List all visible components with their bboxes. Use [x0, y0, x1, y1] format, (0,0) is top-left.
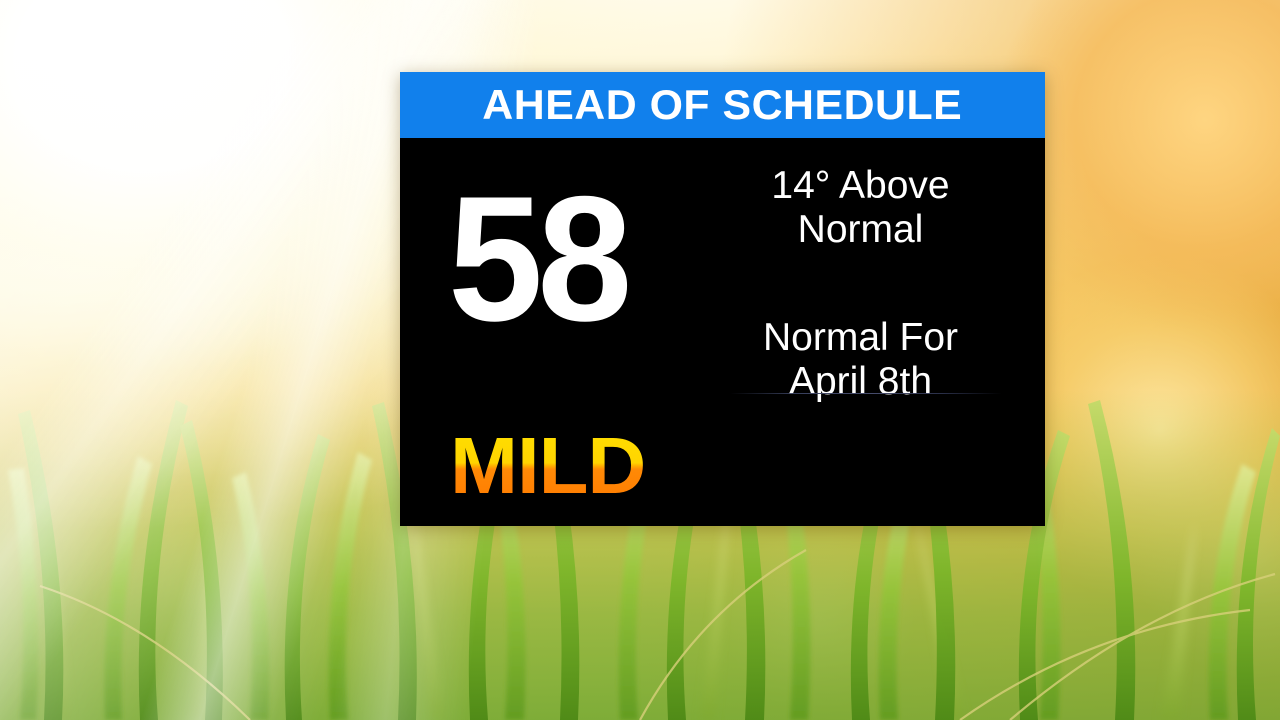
normal-for-note: Normal For April 8th — [720, 316, 1001, 404]
normal-for-line-1: Normal For — [720, 316, 1001, 360]
above-normal-line-2: Normal — [720, 208, 1001, 252]
above-normal-note: 14° Above Normal — [720, 164, 1001, 252]
temperature-value: 58 — [448, 170, 627, 348]
condition-label: MILD — [450, 426, 645, 506]
weather-graphic-stage: AHEAD OF SCHEDULE 58 MILD 14° Above Norm… — [0, 0, 1280, 720]
headline-banner-label: AHEAD OF SCHEDULE — [483, 84, 963, 126]
above-normal-line-1: 14° Above — [720, 164, 1001, 208]
section-divider — [730, 393, 1002, 394]
normal-for-line-2: April 8th — [720, 360, 1001, 404]
temperature-column: 58 MILD — [400, 138, 720, 526]
comparison-column: 14° Above Normal Normal For April 8th — [720, 138, 1045, 526]
card-body: 58 MILD 14° Above Normal Normal For Apri… — [400, 138, 1045, 526]
headline-banner: AHEAD OF SCHEDULE — [400, 72, 1045, 138]
weather-info-card: AHEAD OF SCHEDULE 58 MILD 14° Above Norm… — [400, 72, 1045, 526]
